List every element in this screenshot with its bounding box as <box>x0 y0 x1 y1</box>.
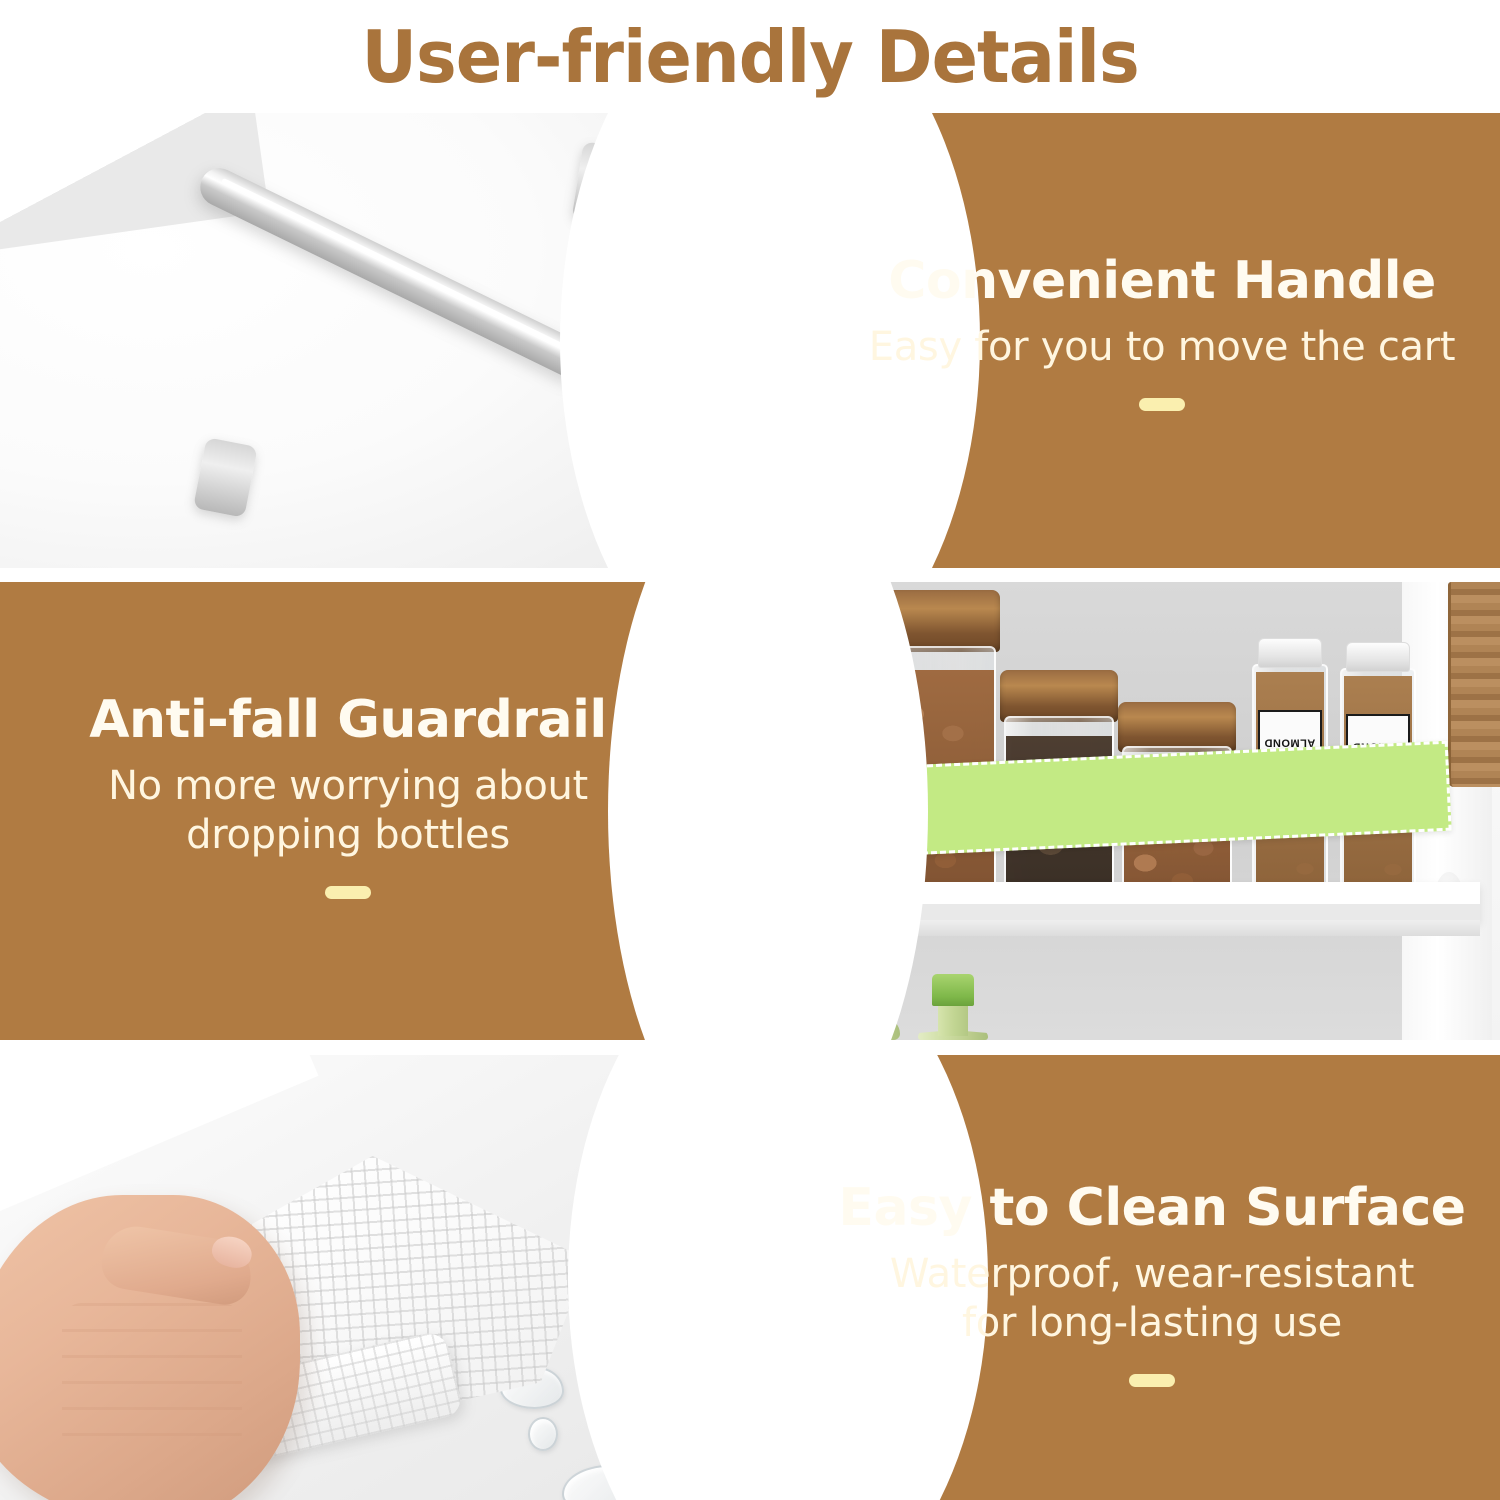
panel3-subtext: Waterproof, wear-resistant for long-last… <box>812 1250 1492 1348</box>
page-title-bar: User-friendly Details <box>0 0 1500 113</box>
panel1-subtext: Easy for you to move the cart <box>842 323 1482 372</box>
panel3-copy: Easy to Clean Surface Waterproof, wear-r… <box>812 1180 1492 1387</box>
panel3-accent-dash <box>1129 1374 1175 1387</box>
handle-leg-left <box>193 437 258 518</box>
panel2-subtext: No more worrying about dropping bottles <box>28 762 668 860</box>
hand-knuckles <box>62 1303 242 1453</box>
spice-bottle-cap <box>1258 638 1322 668</box>
infographic-page: User-friendly Details Convenient Handle <box>0 0 1500 1500</box>
panel1-accent-dash <box>1139 398 1185 411</box>
wooden-cutting-board-icon <box>1448 582 1500 787</box>
panel1-heading: Convenient Handle <box>842 253 1482 309</box>
jar-wood-lid <box>1118 702 1236 752</box>
panel1-copy: Convenient Handle Easy for you to move t… <box>842 253 1482 411</box>
page-title: User-friendly Details <box>361 21 1138 93</box>
panel-anti-fall-guardrail: SMOKED ALMOND SMOKED ALMOND <box>0 582 1500 1040</box>
handle-highlight <box>221 178 576 354</box>
bottle-cap <box>932 974 974 1006</box>
green-bottle-icon <box>918 974 988 1040</box>
jar-wood-lid <box>1000 670 1118 722</box>
panel3-heading: Easy to Clean Surface <box>812 1180 1492 1236</box>
panel-convenient-handle: Convenient Handle Easy for you to move t… <box>0 113 1500 568</box>
water-droplet-icon <box>528 1417 558 1451</box>
panel2-heading: Anti-fall Guardrail <box>28 692 668 748</box>
panel-easy-to-clean-surface: Easy to Clean Surface Waterproof, wear-r… <box>0 1055 1500 1500</box>
panel2-copy: Anti-fall Guardrail No more worrying abo… <box>28 692 668 899</box>
panel2-accent-dash <box>325 886 371 899</box>
spice-bottle-cap <box>1346 642 1410 672</box>
hand-icon <box>0 1195 300 1500</box>
bottle-neck <box>938 1002 968 1036</box>
